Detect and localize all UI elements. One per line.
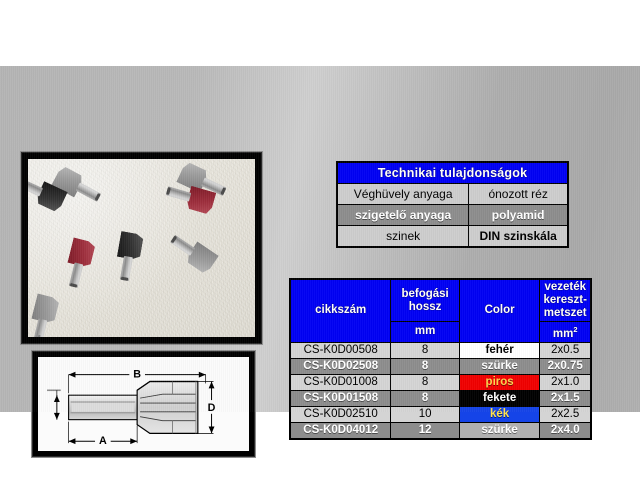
header-length-line1: befogási (401, 288, 448, 300)
spec-table-title: Technikai tulajdonságok (337, 162, 568, 184)
spec-key-0: Véghüvely anyaga (337, 184, 469, 205)
table-row: CS-K0D01008 8 piros 2x1.0 (290, 374, 591, 390)
cell-length: 12 (391, 422, 459, 439)
header-section-unit: mm2 (540, 322, 591, 343)
header-length-unit: mm (391, 322, 459, 343)
cell-length: 8 (391, 374, 459, 390)
spec-table: Technikai tulajdonságok Véghüvely anyaga… (336, 161, 569, 248)
cell-color: fekete (459, 390, 540, 406)
technical-drawing: B A D (38, 357, 249, 451)
product-table-header-row: cikkszám befogási hossz Color vezeték ke… (290, 279, 591, 322)
svg-text:B: B (133, 369, 141, 381)
header-section-unit-sup: 2 (573, 325, 577, 334)
svg-text:A: A (99, 435, 107, 447)
cell-color: kék (459, 406, 540, 422)
cell-article: CS-K0D02508 (290, 358, 391, 374)
header-section-line2: kereszt- (543, 294, 586, 306)
header-length-line2: hossz (409, 301, 442, 313)
header-article: cikkszám (290, 279, 391, 342)
cell-color: piros (459, 374, 540, 390)
cell-section: 2x1.0 (540, 374, 591, 390)
header-section: vezeték kereszt- metszet (540, 279, 591, 322)
header-length: befogási hossz (391, 279, 459, 322)
header-section-line3: metszet (544, 307, 587, 319)
spec-key-2: szinek (337, 226, 469, 248)
cell-length: 8 (391, 342, 459, 358)
svg-text:D: D (208, 402, 216, 414)
cell-section: 2x2.5 (540, 406, 591, 422)
spec-key-1: szigetelő anyaga (337, 205, 469, 226)
cell-length: 10 (391, 406, 459, 422)
spec-value-1: polyamid (469, 205, 568, 226)
cell-article: CS-K0D04012 (290, 422, 391, 439)
table-row: CS-K0D02508 8 szürke 2x0.75 (290, 358, 591, 374)
table-row: CS-K0D04012 12 szürke 2x4.0 (290, 422, 591, 439)
cell-section: 2x4.0 (540, 422, 591, 439)
cell-length: 8 (391, 358, 459, 374)
product-photo-frame (21, 152, 262, 344)
cell-article: CS-K0D02510 (290, 406, 391, 422)
table-row: CS-K0D00508 8 fehér 2x0.5 (290, 342, 591, 358)
table-row: CS-K0D01508 8 fekete 2x1.5 (290, 390, 591, 406)
cell-color: fehér (459, 342, 540, 358)
content-panel: B A D (0, 66, 640, 412)
product-table: cikkszám befogási hossz Color vezeték ke… (289, 278, 592, 440)
table-row: CS-K0D02510 10 kék 2x2.5 (290, 406, 591, 422)
cell-article: CS-K0D01508 (290, 390, 391, 406)
cell-length: 8 (391, 390, 459, 406)
header-section-unit-text: mm (553, 328, 573, 340)
header-section-line1: vezeték (544, 281, 586, 293)
header-color: Color (459, 279, 540, 342)
product-photo (28, 159, 255, 337)
cell-section: 2x0.5 (540, 342, 591, 358)
product-table-body: CS-K0D00508 8 fehér 2x0.5 CS-K0D02508 8 … (290, 342, 591, 439)
spec-row-1: szigetelő anyaga polyamid (337, 205, 568, 226)
spec-title-row: Technikai tulajdonságok (337, 162, 568, 184)
cell-color: szürke (459, 358, 540, 374)
drawing-svg: B A D (38, 357, 249, 451)
cell-color: szürke (459, 422, 540, 439)
spec-row-0: Véghüvely anyaga ónozott réz (337, 184, 568, 205)
cell-article: CS-K0D01008 (290, 374, 391, 390)
spec-row-2: szinek DIN szinskála (337, 226, 568, 248)
cell-section: 2x1.5 (540, 390, 591, 406)
spec-value-0: ónozott réz (469, 184, 568, 205)
spec-value-2: DIN szinskála (469, 226, 568, 248)
cell-article: CS-K0D00508 (290, 342, 391, 358)
technical-drawing-frame: B A D (32, 351, 255, 457)
cell-section: 2x0.75 (540, 358, 591, 374)
